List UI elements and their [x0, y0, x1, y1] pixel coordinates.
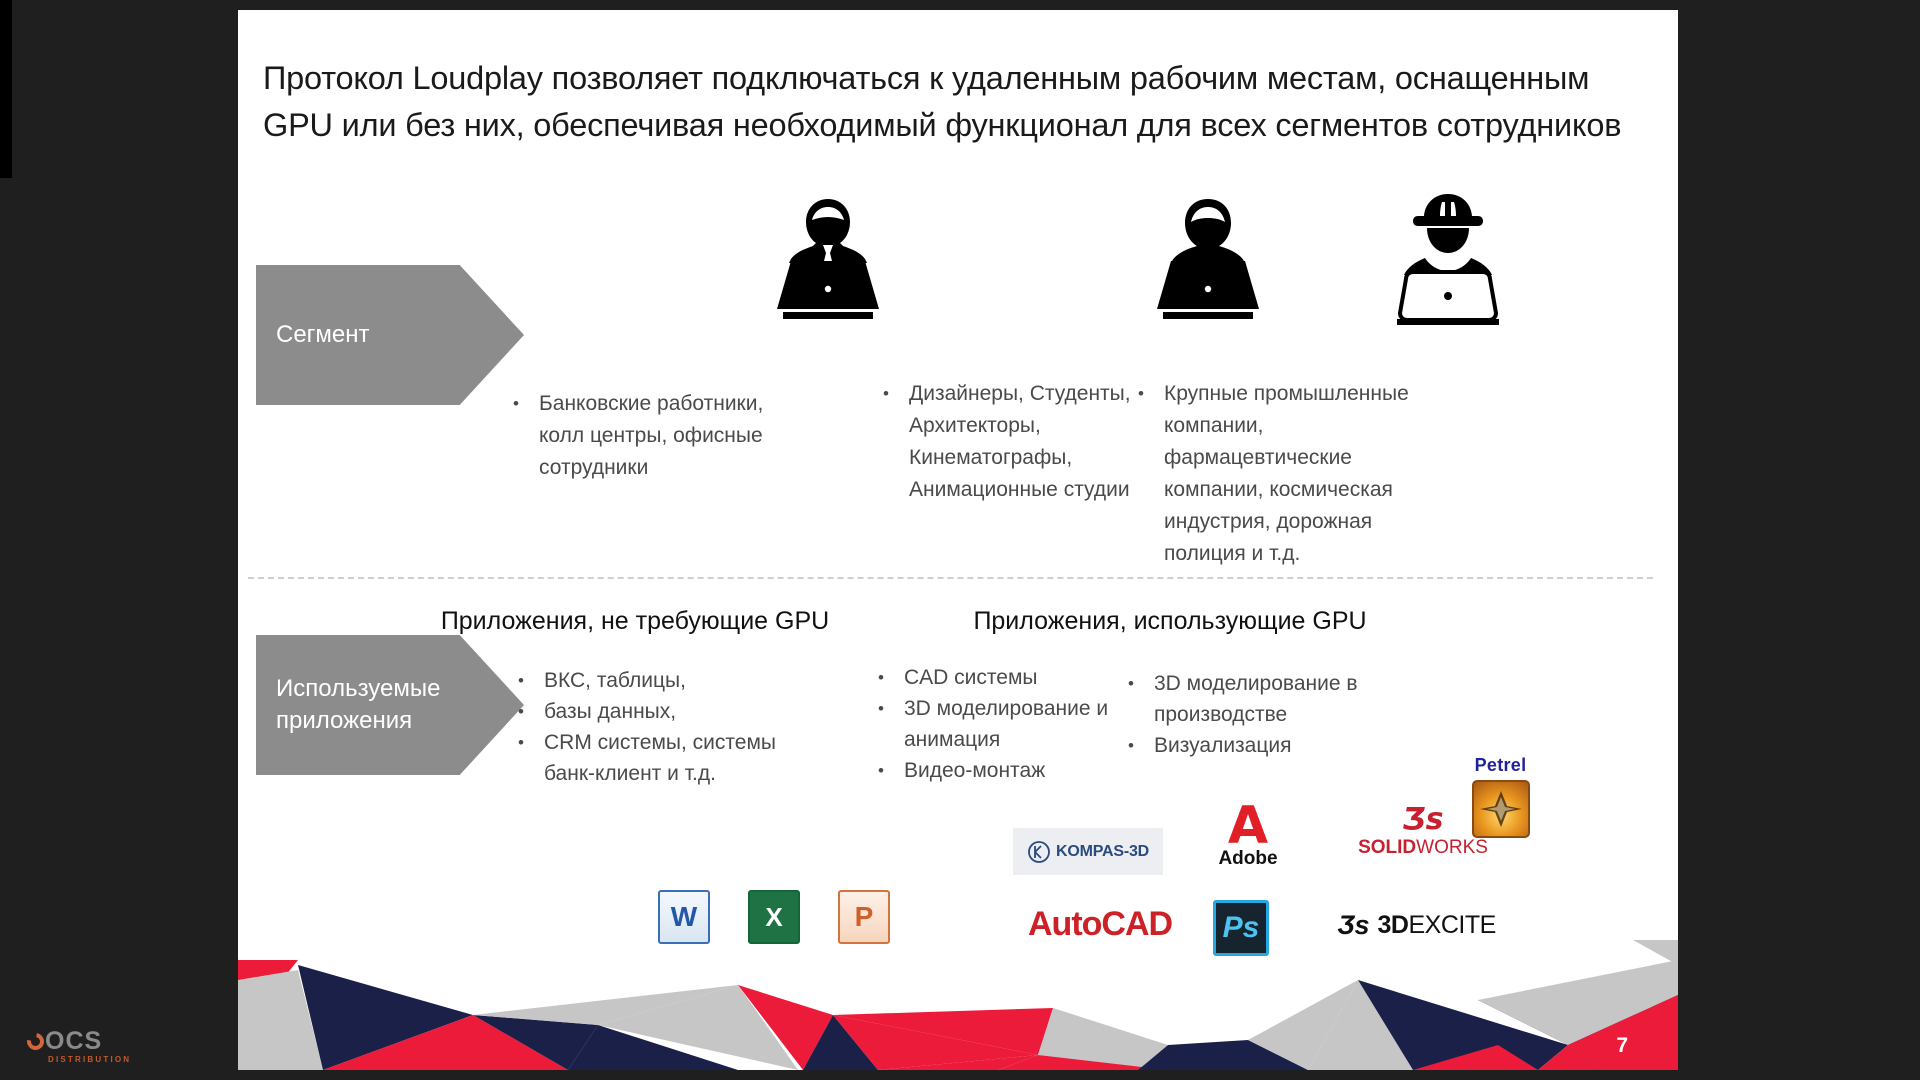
no-gpu-bullet-1: ВКС, таблицы,: [544, 665, 818, 696]
gpu-bullet-l-2: 3D моделирование и анимация: [904, 693, 1118, 755]
section-divider: [248, 577, 1653, 579]
list-item: •базы данных,: [518, 696, 818, 727]
businessman-laptop-icon: [763, 195, 893, 340]
solidworks-label: SOLIDWORKS: [1343, 837, 1503, 859]
bullet-dot: •: [513, 388, 539, 484]
bullet-dot: •: [518, 665, 544, 696]
3dexcite-logo: Ӡs 3DEXCITE: [1338, 910, 1496, 941]
list-item: • Дизайнеры, Студенты, Архитекторы, Кине…: [883, 378, 1143, 506]
gpu-bullet-r-1: 3D моделирование в производстве: [1154, 668, 1418, 730]
gpu-bullet-r-2: Визуализация: [1154, 730, 1418, 761]
excite-rest: EXCITE: [1408, 911, 1495, 939]
bullet-dot: •: [878, 662, 904, 693]
page-number: 7: [1616, 1034, 1628, 1058]
excel-letter: X: [765, 902, 782, 933]
ocs-ring-icon: [24, 1030, 48, 1054]
no-gpu-bullet-3: CRM системы, системы банк-клиент и т.д.: [544, 727, 818, 789]
no-gpu-bullets: •ВКС, таблицы, •базы данных, •CRM систем…: [518, 665, 818, 789]
list-item: •CRM системы, системы банк-клиент и т.д.: [518, 727, 818, 789]
petrel-mark-icon: [1472, 780, 1530, 838]
decorative-triangle-band: [238, 940, 1678, 1070]
microsoft-excel-icon: X: [748, 890, 800, 944]
bullet-dot: •: [1138, 378, 1164, 570]
apps-chevron-text: Используемые приложения: [276, 673, 524, 737]
bullet-dot: •: [518, 727, 544, 789]
list-item: •3D моделирование и анимация: [878, 693, 1118, 755]
heading-no-gpu: Приложения, не требующие GPU: [340, 604, 930, 638]
gpu-bullet-l-1: CAD системы: [904, 662, 1118, 693]
person-laptop-icon: [1143, 195, 1273, 340]
list-item: • Банковские работники, колл центры, офи…: [513, 388, 793, 484]
adobe-label: Adobe: [1203, 848, 1293, 870]
kompas-mark-icon: [1027, 840, 1051, 864]
segment-text-3: Крупные промышленные компании, фармацевт…: [1164, 378, 1418, 570]
microsoft-powerpoint-icon: P: [838, 890, 890, 944]
solidworks-works: WORKS: [1416, 837, 1488, 858]
adobe-logo: A Adobe: [1203, 800, 1293, 870]
3dexcite-label: 3DEXCITE: [1378, 911, 1496, 940]
segment-column-2: • Дизайнеры, Студенты, Архитекторы, Кине…: [883, 378, 1143, 506]
petrel-label: Petrel: [1453, 755, 1548, 776]
kompas-label: KOMPAS-3D: [1056, 843, 1149, 861]
bullet-dot: •: [883, 378, 909, 506]
word-letter: W: [671, 901, 697, 933]
slide-title: Протокол Loudplay позволяет подключаться…: [263, 55, 1653, 149]
ocs-name: OCS: [45, 1029, 102, 1054]
list-item: • Крупные промышленные компании, фармаце…: [1138, 378, 1418, 570]
autocad-logo: AutoCAD: [1028, 905, 1172, 944]
segment-text-1: Банковские работники, колл центры, офисн…: [539, 388, 793, 484]
list-item: •CAD системы: [878, 662, 1118, 693]
powerpoint-letter: P: [855, 901, 874, 933]
segment-chevron-label: Сегмент: [256, 265, 524, 405]
gpu-bullets-right: •3D моделирование в производстве •Визуал…: [1128, 668, 1418, 761]
segment-text-2: Дизайнеры, Студенты, Архитекторы, Кинема…: [909, 378, 1143, 506]
microsoft-word-icon: W: [658, 890, 710, 944]
gpu-bullet-l-3: Видео-монтаж: [904, 755, 1118, 786]
ocs-logo: OCS DISTRIBUTION: [28, 1029, 131, 1064]
engineer-helmet-laptop-icon: [1383, 188, 1513, 341]
bullet-dot: •: [878, 693, 904, 755]
segment-column-3: • Крупные промышленные компании, фармаце…: [1138, 378, 1418, 570]
list-item: •ВКС, таблицы,: [518, 665, 818, 696]
kompas-3d-logo: KOMPAS-3D: [1013, 828, 1163, 875]
adobe-a-mark: A: [1203, 800, 1293, 852]
solidworks-solid: SOLID: [1358, 837, 1416, 858]
ocs-subtitle: DISTRIBUTION: [48, 1055, 131, 1064]
bullet-dot: •: [1128, 730, 1154, 761]
segment-column-1: • Банковские работники, колл центры, офи…: [513, 388, 793, 484]
excite-3d: 3D: [1378, 911, 1409, 939]
petrel-logo: Petrel: [1453, 755, 1548, 838]
ocs-logo-row: OCS: [28, 1029, 131, 1054]
bullet-dot: •: [518, 696, 544, 727]
list-item: •3D моделирование в производстве: [1128, 668, 1418, 730]
bullet-dot: •: [1128, 668, 1154, 730]
presentation-slide: Протокол Loudplay позволяет подключаться…: [238, 10, 1678, 1070]
no-gpu-bullet-2: базы данных,: [544, 696, 818, 727]
top-left-black-strip: [0, 0, 12, 178]
apps-chevron-label: Используемые приложения: [256, 635, 524, 775]
gpu-bullets-left: •CAD системы •3D моделирование и анимаци…: [878, 662, 1118, 786]
bullet-dot: •: [878, 755, 904, 786]
list-item: •Визуализация: [1128, 730, 1418, 761]
heading-gpu: Приложения, использующие GPU: [880, 604, 1460, 638]
segment-chevron-text: Сегмент: [276, 319, 370, 351]
dassault-3ds-mark: Ӡs: [1338, 910, 1370, 941]
list-item: •Видео-монтаж: [878, 755, 1118, 786]
